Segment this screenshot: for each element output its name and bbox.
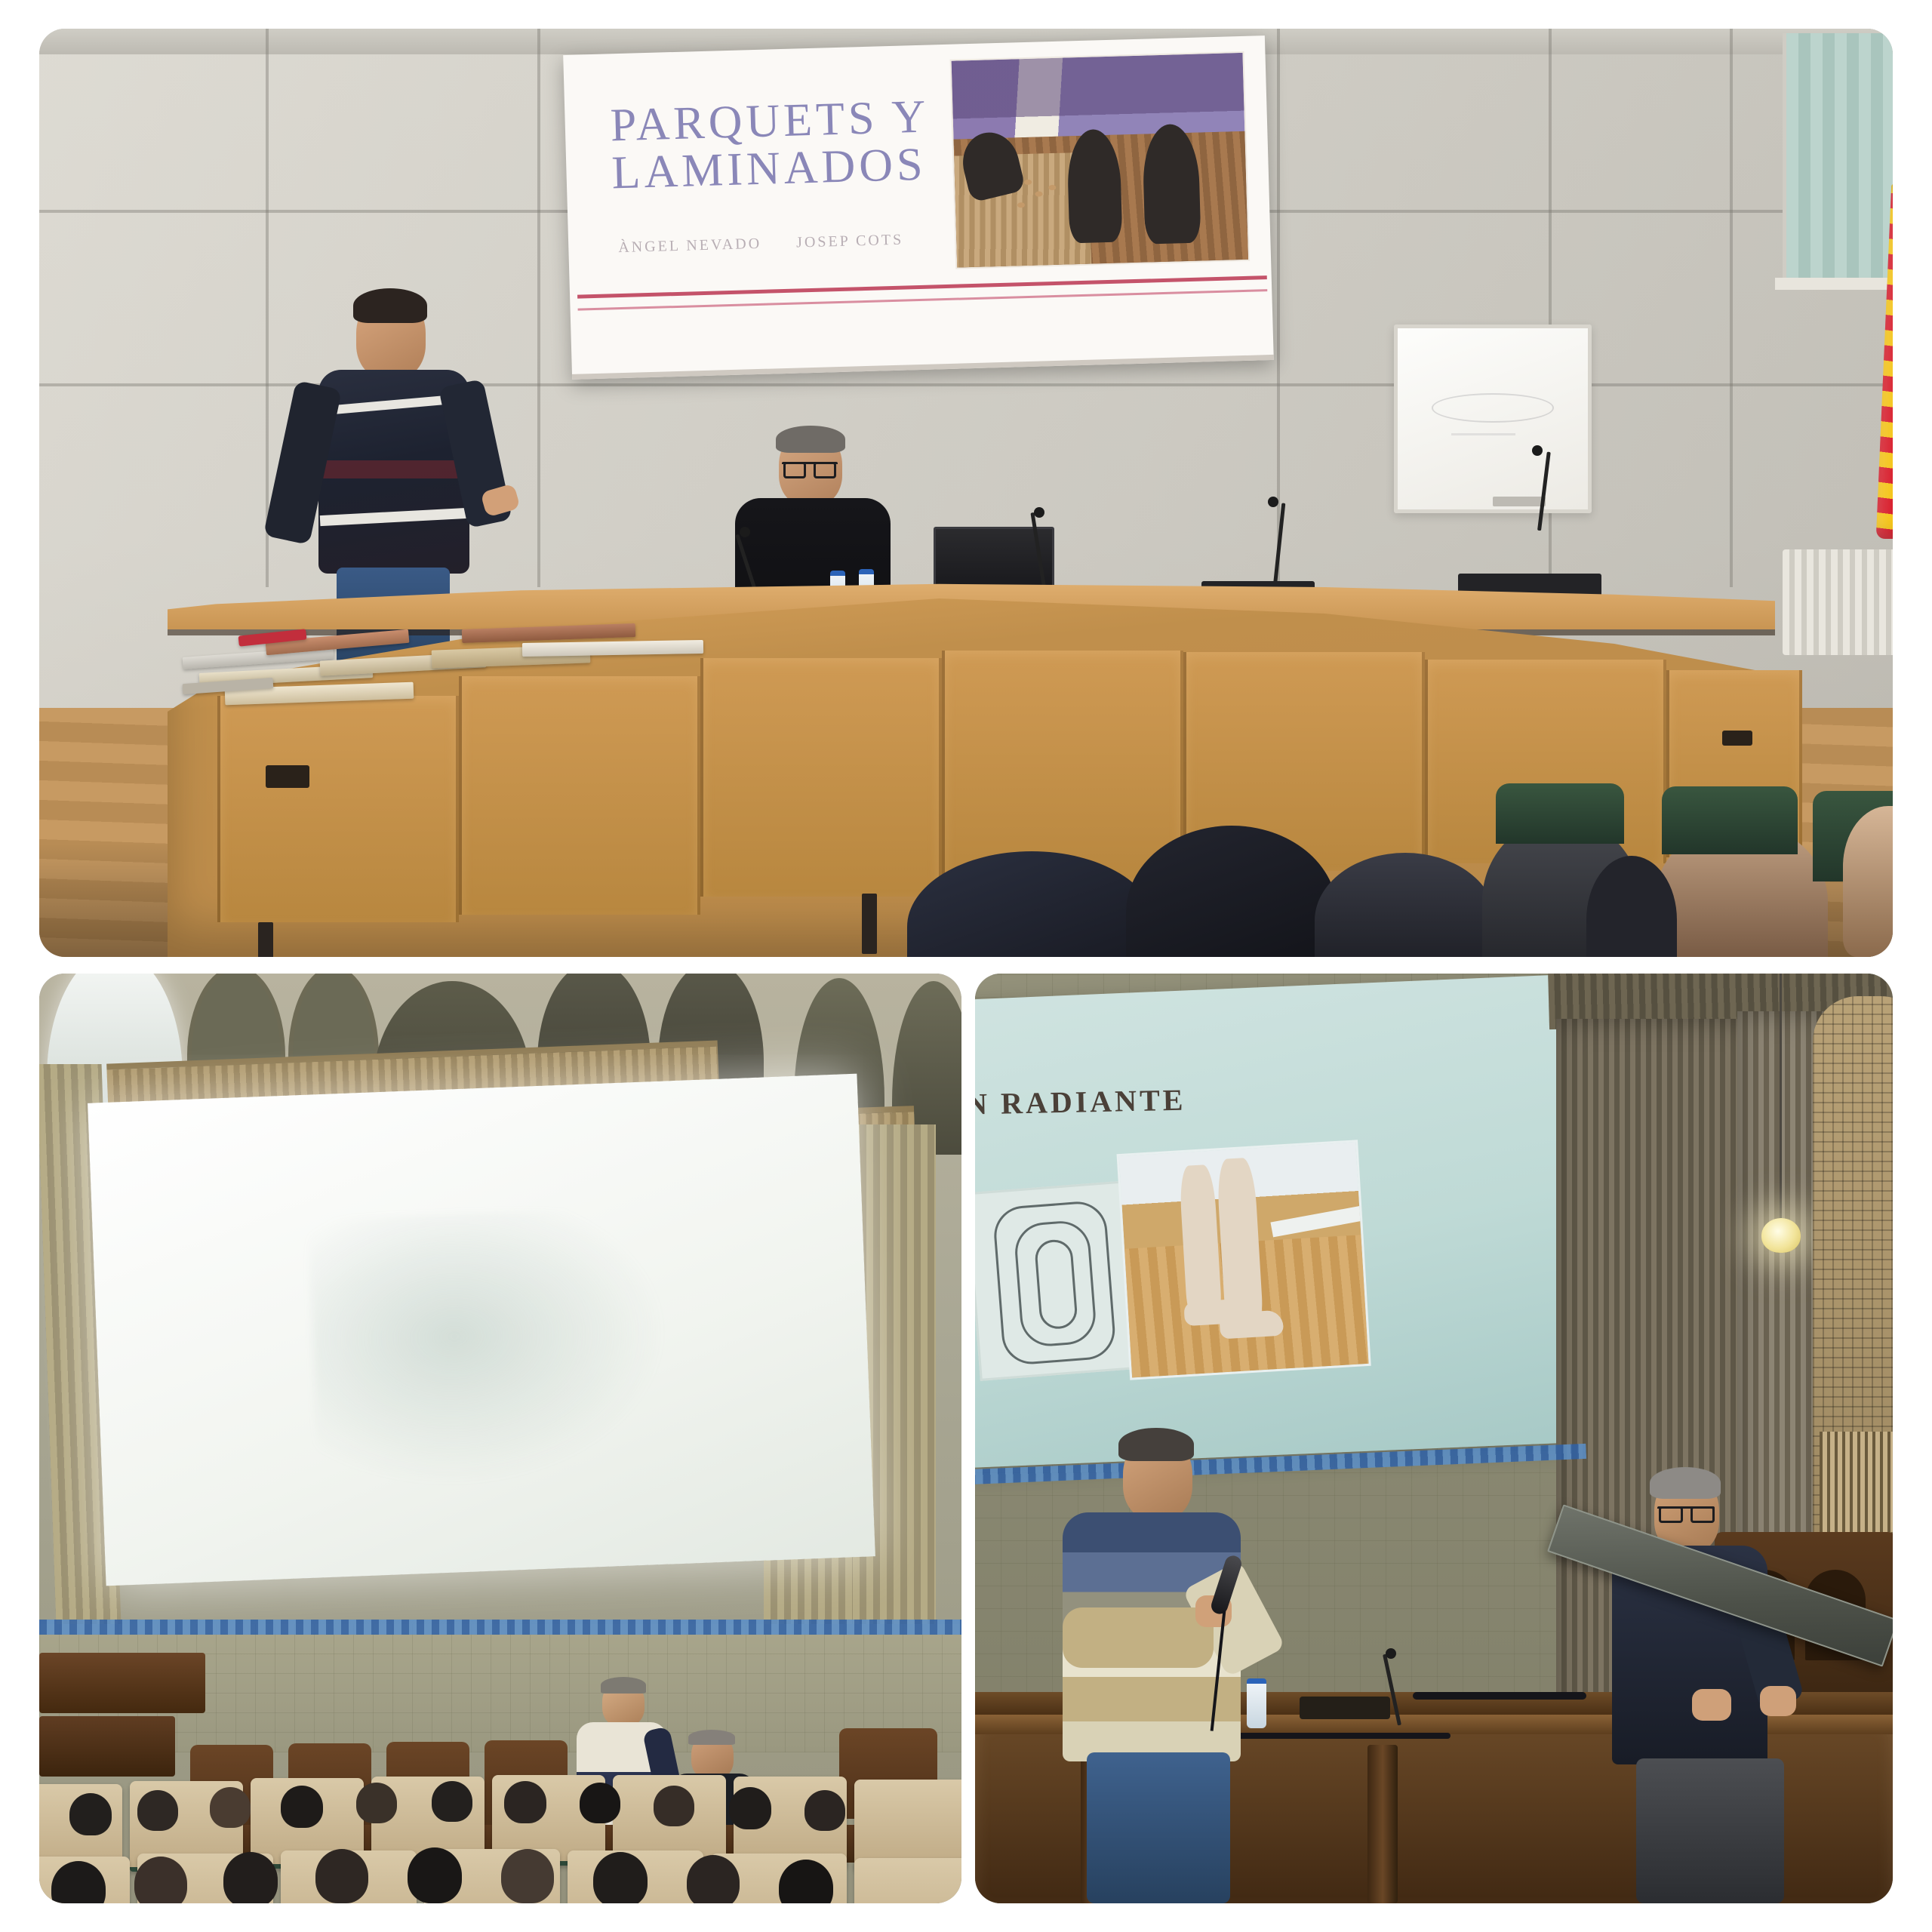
- whiteboard: [1394, 325, 1592, 513]
- blue-tile-border: [39, 1620, 961, 1635]
- speaker2-hair: [1650, 1467, 1721, 1499]
- auditorium-seat: [854, 1858, 961, 1903]
- speaker-crossed-arm: [1063, 1607, 1214, 1668]
- wall-seam: [266, 29, 269, 587]
- student-head: [356, 1783, 397, 1823]
- slide-author-1: ÀNGEL NEVADO: [618, 235, 761, 257]
- student-head: [315, 1849, 368, 1903]
- grille-louvers: [1820, 1432, 1893, 1532]
- slide-photo-skirting: [1270, 1206, 1362, 1237]
- desk-leg: [1367, 1745, 1398, 1903]
- student-head: [223, 1852, 278, 1903]
- speaker-hair: [601, 1677, 646, 1694]
- radiant-heating-talk-scene: N RADIANTE: [975, 974, 1893, 1903]
- window-sill: [1775, 278, 1893, 290]
- water-bottle: [1247, 1678, 1266, 1728]
- panel-radiant-floor-heating-talk: N RADIANTE: [975, 974, 1893, 1903]
- slide-authors: ÀNGEL NEVADO JOSEP COTS: [618, 232, 903, 257]
- pendant-light-wire: [1780, 974, 1782, 1223]
- heating-pipe-loop: [1034, 1238, 1078, 1330]
- radiator: [1783, 549, 1893, 655]
- projected-image-ghost: [308, 1207, 672, 1491]
- table-front-panel: [459, 676, 700, 915]
- student-head: [729, 1787, 771, 1829]
- slide-author-2: JOSEP COTS: [796, 232, 904, 252]
- student-head: [69, 1793, 112, 1835]
- table-front-panel: [942, 651, 1183, 881]
- student-head: [134, 1857, 187, 1903]
- pendant-light-bulb: [1761, 1218, 1801, 1253]
- student-head: [504, 1781, 546, 1823]
- presenter-hair: [353, 288, 427, 323]
- projection-screen: PARQUETS Y LAMINADOS ÀNGEL NEVADO JOSEP …: [563, 35, 1274, 380]
- cable: [1413, 1692, 1586, 1700]
- table-leg: [258, 922, 273, 957]
- projection-screen: [88, 1074, 875, 1586]
- projection-screen: N RADIANTE: [975, 974, 1589, 1468]
- panel-historic-auditorium-audience: [39, 974, 961, 1903]
- panel-lecture-room-presentation: PARQUETS Y LAMINADOS ÀNGEL NEVADO JOSEP …: [39, 29, 1893, 957]
- student-head: [432, 1781, 472, 1822]
- student-head: [654, 1786, 694, 1826]
- slide-title: N RADIANTE: [975, 1082, 1186, 1122]
- wall-seam: [537, 29, 540, 587]
- table-front-panel: [217, 696, 459, 922]
- classroom-scene: PARQUETS Y LAMINADOS ÀNGEL NEVADO JOSEP …: [39, 29, 1893, 957]
- speaker-hair: [1118, 1428, 1194, 1461]
- speaker2-jeans: [1636, 1758, 1784, 1903]
- microphone-head: [1034, 507, 1044, 518]
- eyeglass-lens: [814, 462, 836, 478]
- slide-rule-primary: [577, 275, 1267, 299]
- student-head: [137, 1790, 178, 1831]
- student-head: [804, 1790, 845, 1831]
- auditorium-scene: [39, 974, 961, 1903]
- slide-title: PARQUETS Y LAMINADOS: [610, 93, 937, 197]
- student-head: [501, 1849, 554, 1903]
- slide-diagram-pipe-loop: [975, 1180, 1140, 1381]
- colleague-hair: [688, 1730, 735, 1745]
- sweater-stripe-red: [323, 460, 466, 478]
- table-cable-vent: [266, 765, 309, 788]
- microphone-head: [1386, 1648, 1396, 1659]
- table-leg: [862, 894, 877, 954]
- whiteboard-smudge: [1451, 433, 1516, 435]
- student-head: [408, 1847, 462, 1903]
- title-slide: PARQUETS Y LAMINADOS ÀNGEL NEVADO JOSEP …: [563, 35, 1273, 374]
- slide-photo-floor-scrapers: [950, 51, 1251, 269]
- speaker2-hand: [1692, 1689, 1731, 1721]
- student-head: [593, 1852, 648, 1903]
- student-head: [687, 1855, 740, 1903]
- whiteboard-smudge: [1432, 393, 1553, 422]
- side-gallery-bench: [39, 1653, 205, 1713]
- auditorium-seat: [1662, 786, 1798, 854]
- table-front-panel: [700, 658, 942, 897]
- microphone-head: [740, 527, 750, 537]
- eyeglass-lens: [783, 462, 806, 478]
- auditorium-seat: [1496, 783, 1624, 844]
- student-head: [281, 1786, 323, 1828]
- perforated-arched-grille: [1813, 996, 1893, 1555]
- desk-equipment: [1300, 1697, 1390, 1719]
- slide-title-line2: LAMINADOS: [611, 141, 937, 198]
- eyeglass-lens: [1690, 1506, 1715, 1523]
- student-head: [580, 1783, 620, 1823]
- table-cable-vent: [1722, 731, 1752, 746]
- wall-seam: [1730, 29, 1733, 587]
- slide-photo-bare-feet-on-wood: [1117, 1140, 1371, 1380]
- slide-photo-foot: [1219, 1310, 1284, 1340]
- microphone-head: [1532, 445, 1543, 456]
- speaker-jeans: [1087, 1752, 1230, 1903]
- whiteboard-pen-tray: [1493, 497, 1546, 506]
- student-head: [210, 1787, 251, 1828]
- window-blinds: [1783, 33, 1893, 282]
- speaker2-hand: [1760, 1686, 1796, 1716]
- photo-collage: PARQUETS Y LAMINADOS ÀNGEL NEVADO JOSEP …: [0, 0, 1932, 1932]
- eyeglass-lens: [1659, 1506, 1683, 1523]
- microphone-head: [1268, 497, 1278, 507]
- seated-presenter-hair: [776, 426, 845, 453]
